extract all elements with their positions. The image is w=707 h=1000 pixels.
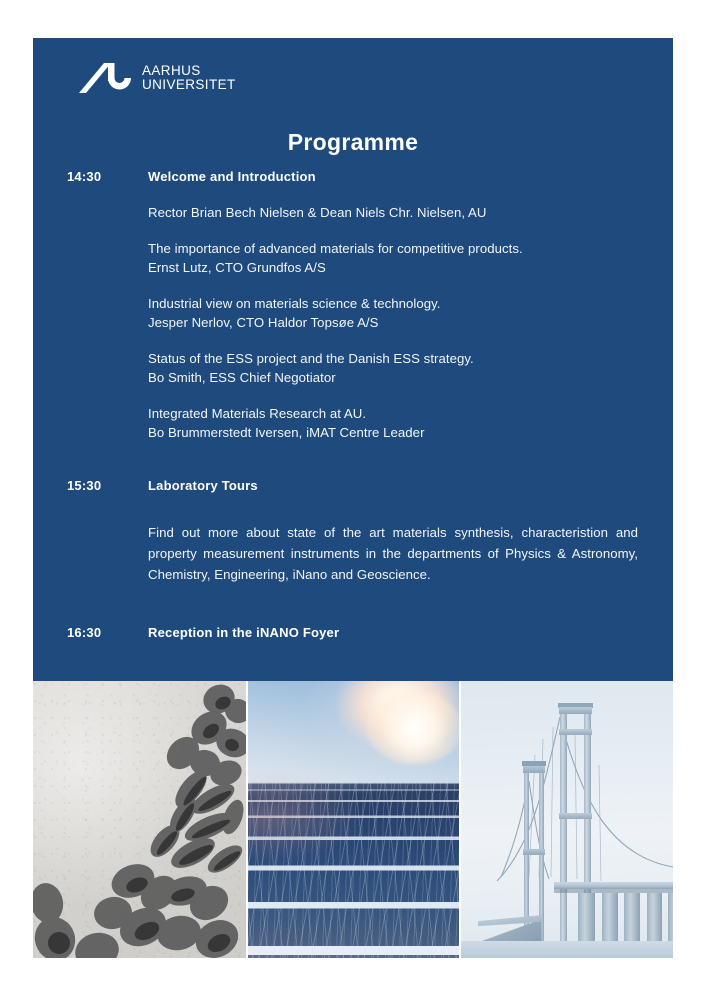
talk-item: Industrial view on materials science & t… bbox=[148, 294, 673, 332]
schedule-entry-1530: 15:30 Laboratory Tours Find out more abo… bbox=[67, 476, 673, 598]
entry-spacer bbox=[148, 495, 673, 522]
schedule-spacer bbox=[67, 442, 673, 476]
schedule-spacer bbox=[67, 598, 673, 623]
pylon-crossbeam bbox=[523, 766, 545, 773]
talk-item: Rector Brian Bech Nielsen & Dean Niels C… bbox=[148, 203, 673, 222]
entry-time: 14:30 bbox=[67, 167, 148, 186]
schedule-entry-1630: 16:30 Reception in the iNANO Foyer bbox=[67, 623, 673, 642]
entry-heading: Welcome and Introduction bbox=[148, 167, 673, 186]
poster-page: AARHUS UNIVERSITET Programme 14:30 Welco… bbox=[0, 0, 707, 1000]
nanoparticle-tem-image bbox=[33, 681, 246, 958]
talk-line: Industrial view on materials science & t… bbox=[148, 294, 673, 313]
solar-lens-flare bbox=[248, 772, 362, 861]
au-logo-wordmark: AARHUS UNIVERSITET bbox=[142, 64, 236, 92]
solar-panel-image bbox=[248, 681, 459, 958]
talk-item: Status of the ESS project and the Danish… bbox=[148, 349, 673, 387]
talk-line: Rector Brian Bech Nielsen & Dean Niels C… bbox=[148, 203, 673, 222]
talk-line: Bo Smith, ESS Chief Negotiator bbox=[148, 368, 673, 387]
talk-line: Bo Brummerstedt Iversen, iMAT Centre Lea… bbox=[148, 423, 673, 442]
pylon-crossbeam bbox=[559, 813, 592, 820]
entry-description: Find out more about state of the art mat… bbox=[148, 522, 638, 585]
talk-line: Jesper Nerlov, CTO Haldor Topsøe A/S bbox=[148, 313, 673, 332]
pylon-leg bbox=[560, 703, 567, 958]
programme-panel: AARHUS UNIVERSITET Programme 14:30 Welco… bbox=[33, 38, 673, 681]
pylon-crossbeam bbox=[559, 707, 592, 714]
entry-time: 16:30 bbox=[67, 623, 148, 642]
schedule-entry-1430: 14:30 Welcome and Introduction Rector Br… bbox=[67, 167, 673, 442]
bridge-image bbox=[461, 681, 673, 958]
entry-heading: Laboratory Tours bbox=[148, 476, 673, 495]
image-strip bbox=[33, 681, 673, 958]
schedule-list: 14:30 Welcome and Introduction Rector Br… bbox=[67, 167, 673, 642]
bridge-water bbox=[461, 941, 673, 958]
tem-particles bbox=[33, 681, 246, 958]
talk-line: Integrated Materials Research at AU. bbox=[148, 404, 673, 423]
sun-glow bbox=[366, 692, 459, 764]
au-logo: AARHUS UNIVERSITET bbox=[77, 61, 236, 95]
talk-item: The importance of advanced materials for… bbox=[148, 239, 673, 277]
talk-line: Status of the ESS project and the Danish… bbox=[148, 349, 673, 368]
logo-line-aarhus: AARHUS bbox=[142, 64, 236, 78]
pylon-crossbeam bbox=[523, 849, 545, 856]
entry-heading: Reception in the iNANO Foyer bbox=[148, 623, 673, 642]
talk-line: The importance of advanced materials for… bbox=[148, 239, 673, 258]
logo-line-universitet: UNIVERSITET bbox=[142, 78, 236, 92]
pylon-crossbeam bbox=[559, 729, 592, 736]
au-logo-mark bbox=[77, 61, 133, 95]
page-title: Programme bbox=[33, 129, 673, 156]
talk-line: Ernst Lutz, CTO Grundfos A/S bbox=[148, 258, 673, 277]
entry-time: 15:30 bbox=[67, 476, 148, 495]
talk-item: Integrated Materials Research at AU. Bo … bbox=[148, 404, 673, 442]
